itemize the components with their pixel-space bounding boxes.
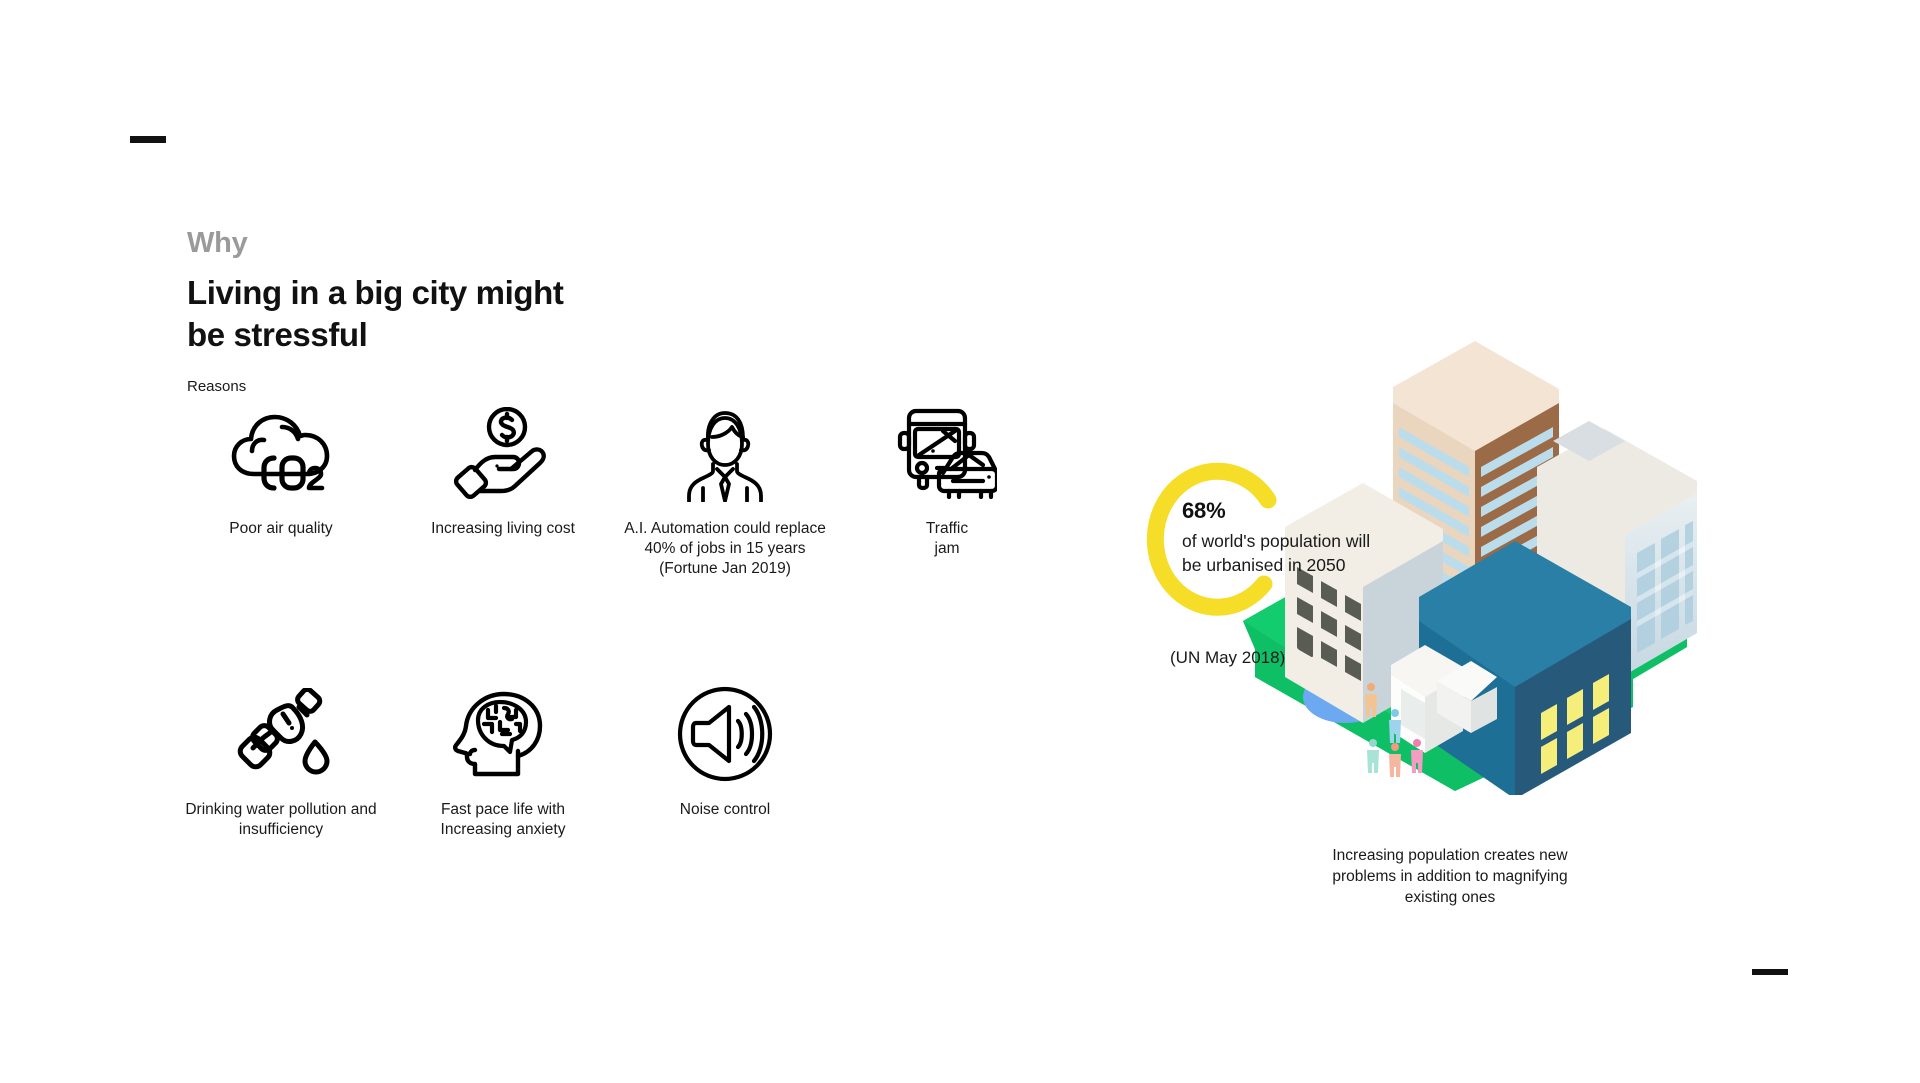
stat-percent: 68% xyxy=(1182,498,1382,524)
section-eyebrow: Why xyxy=(187,228,1087,260)
office-worker-icon xyxy=(679,400,771,505)
reason-item-water-pollution[interactable]: Drinking water pollution and insufficien… xyxy=(170,681,392,840)
reason-item-increasing-living-cost[interactable]: Increasing living cost xyxy=(392,400,614,539)
co2-cloud-icon xyxy=(230,400,332,505)
reason-caption: A.I. Automation could replace 40% of job… xyxy=(618,519,833,578)
page-title: Living in a big city might be stressful xyxy=(187,272,607,356)
water-bottle-drop-icon xyxy=(229,681,333,786)
stat-source: (UN May 2018) xyxy=(1170,648,1285,668)
city-caption: Increasing population creates new proble… xyxy=(1320,845,1580,908)
reason-caption: Increasing living cost xyxy=(431,519,575,539)
reason-item-noise-control[interactable]: Noise control xyxy=(614,681,836,820)
top-dash-mark xyxy=(130,136,166,143)
stat-description: of world's population will be urbanised … xyxy=(1182,530,1382,577)
reason-caption: Noise control xyxy=(680,800,770,820)
reasons-label: Reasons xyxy=(187,378,1087,396)
reason-item-ai-automation[interactable]: A.I. Automation could replace 40% of job… xyxy=(614,400,836,578)
reason-caption: Traffic jam xyxy=(926,519,968,559)
slide-root: Why Living in a big city might be stress… xyxy=(0,0,1920,1083)
reason-item-poor-air-quality[interactable]: Poor air quality xyxy=(170,400,392,539)
bus-car-icon xyxy=(897,400,997,505)
speaker-volume-icon xyxy=(676,681,774,786)
reason-item-fast-pace-anxiety[interactable]: Fast pace life with Increasing anxiety xyxy=(392,681,614,840)
reason-item-traffic-jam[interactable]: Traffic jam xyxy=(836,400,1058,559)
money-hand-icon xyxy=(453,400,553,505)
reasons-row-1: Poor air quality xyxy=(170,400,1170,578)
reasons-row-2: Drinking water pollution and insufficien… xyxy=(170,681,1170,840)
reason-caption: Drinking water pollution and insufficien… xyxy=(174,800,389,840)
reason-caption: Fast pace life with Increasing anxiety xyxy=(396,800,611,840)
stat-text: 68% of world's population will be urbani… xyxy=(1182,498,1382,577)
brain-head-icon xyxy=(452,681,554,786)
stat-block: 68% of world's population will be urbani… xyxy=(1138,448,1468,698)
reason-caption: Poor air quality xyxy=(229,519,332,539)
bottom-dash-mark xyxy=(1752,969,1788,975)
reasons-grid: Poor air quality xyxy=(170,400,1170,840)
left-text-column: Why Living in a big city might be stress… xyxy=(187,228,1087,396)
